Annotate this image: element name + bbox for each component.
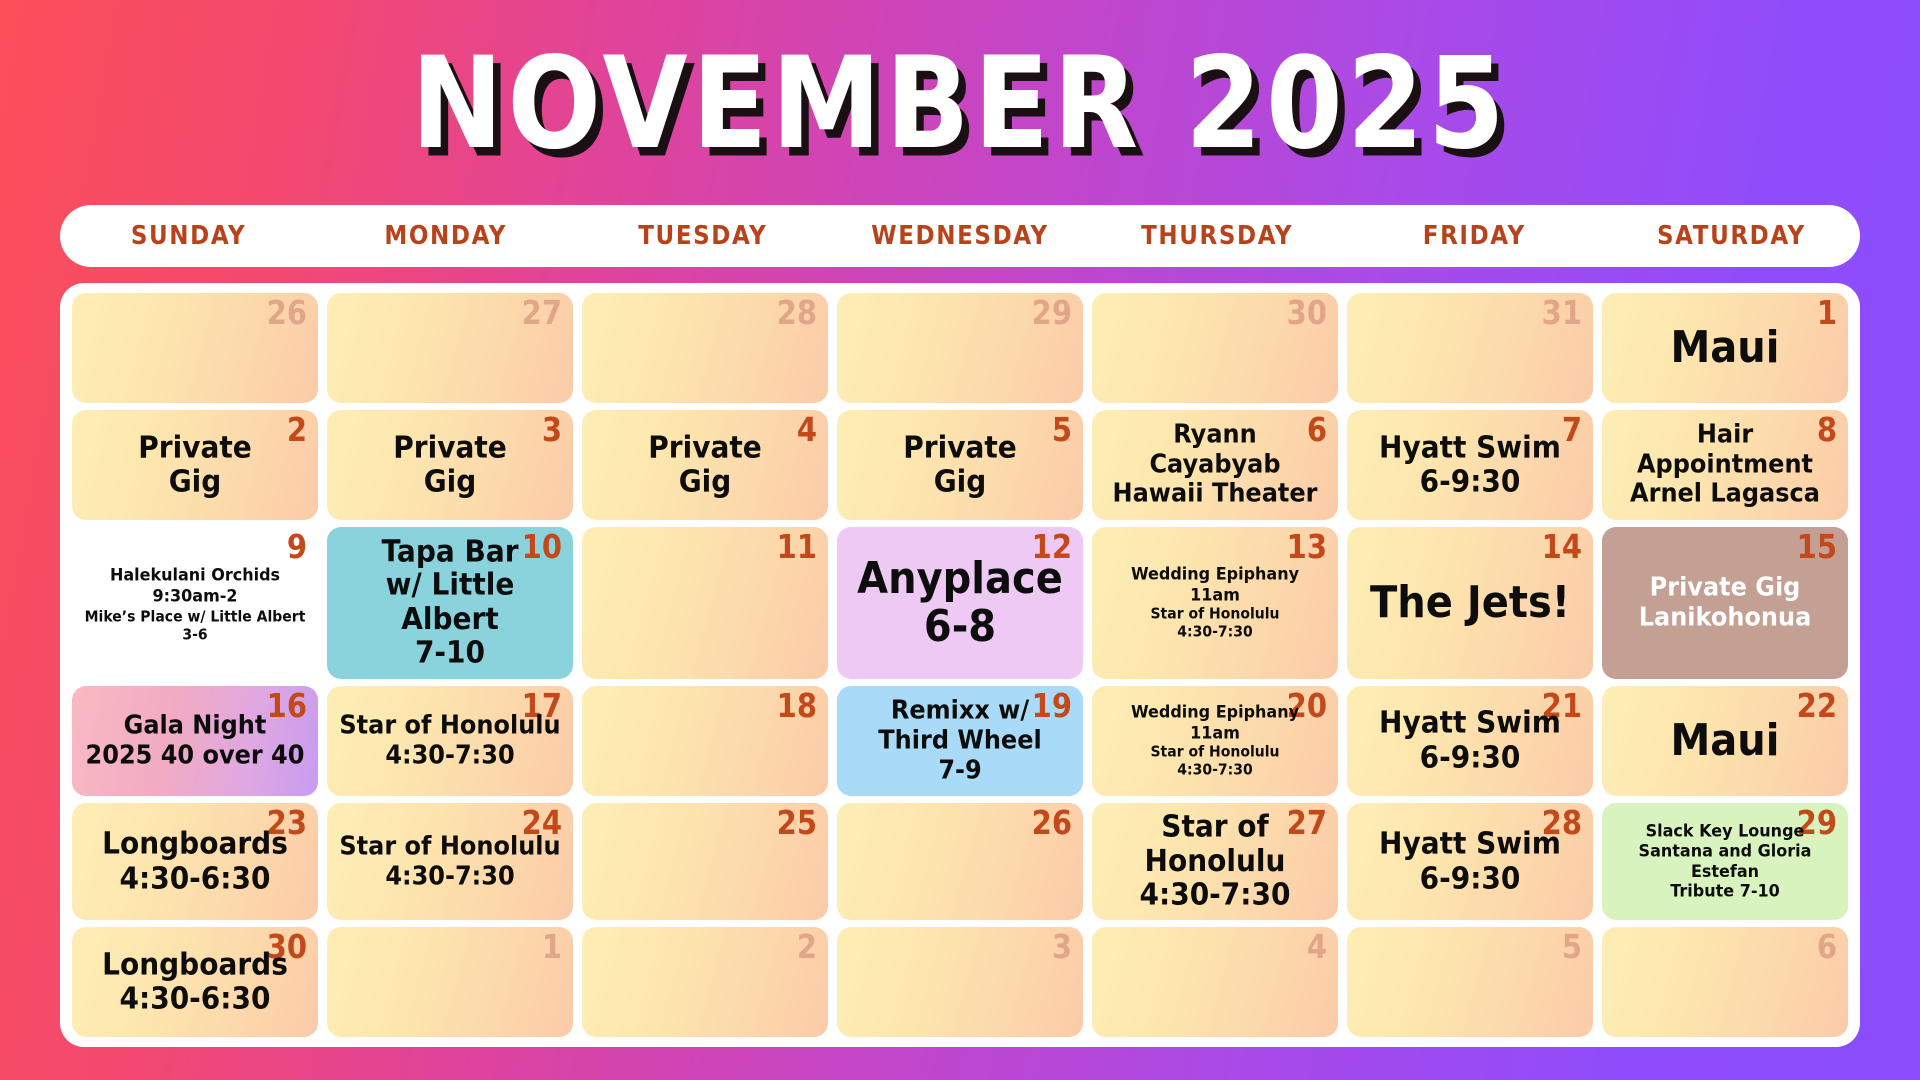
day-number: 30 bbox=[1287, 297, 1327, 329]
day-cell-1[interactable]: 1Maui bbox=[1602, 293, 1848, 403]
event-text: Remixx w/ bbox=[891, 696, 1029, 726]
event-text: 4:30-6:30 bbox=[120, 861, 271, 896]
event-text: 7-9 bbox=[938, 756, 981, 786]
event-text: Halekulani Orchids bbox=[110, 565, 280, 585]
day-cell-28[interactable]: 28 bbox=[582, 293, 828, 403]
day-cell-14[interactable]: 14The Jets! bbox=[1347, 527, 1593, 679]
event-text: Star of Honolulu bbox=[339, 711, 560, 741]
event-text: 11am bbox=[1190, 585, 1240, 605]
weekday-label-monday: MONDAY bbox=[317, 221, 574, 250]
day-cell-31[interactable]: 31 bbox=[1347, 293, 1593, 403]
day-cell-4[interactable]: 4PrivateGig bbox=[582, 410, 828, 520]
event-text: Ryann Cayabyab bbox=[1104, 420, 1326, 480]
day-cell-8[interactable]: 8Hair AppointmentArnel Lagasca bbox=[1602, 410, 1848, 520]
day-number: 7 bbox=[1562, 414, 1582, 446]
event-text: 3-6 bbox=[85, 627, 306, 645]
day-cell-7[interactable]: 7Hyatt Swim6-9:30 bbox=[1347, 410, 1593, 520]
event-text: Mike’s Place w/ Little Albert bbox=[85, 609, 306, 627]
day-cell-4[interactable]: 4 bbox=[1092, 927, 1338, 1037]
day-number: 6 bbox=[1817, 932, 1837, 964]
event-text: Slack Key Lounge bbox=[1646, 822, 1805, 842]
day-cell-10[interactable]: 10Tapa Barw/ Little Albert7-10 bbox=[327, 527, 573, 679]
day-cell-25[interactable]: 25 bbox=[582, 803, 828, 920]
event-text: Hyatt Swim bbox=[1379, 827, 1561, 862]
day-cell-30[interactable]: 30 bbox=[1092, 293, 1338, 403]
day-cell-27[interactable]: 27Star of Honolulu4:30-7:30 bbox=[1092, 803, 1338, 920]
day-number: 26 bbox=[267, 297, 307, 329]
event-text: 4:30-7:30 bbox=[1177, 624, 1252, 642]
event-text: 4:30-7:30 bbox=[1140, 878, 1291, 913]
weekday-label-tuesday: TUESDAY bbox=[574, 221, 831, 250]
event-text: 11am bbox=[1190, 723, 1240, 743]
event-text: Star of Honolulu bbox=[1150, 744, 1279, 762]
day-number: 31 bbox=[1542, 297, 1582, 329]
calendar-week-row: 30Longboards4:30-6:30123456 bbox=[72, 927, 1848, 1037]
day-cell-21[interactable]: 21Hyatt Swim6-9:30 bbox=[1347, 686, 1593, 796]
day-cell-6[interactable]: 6Ryann CayabyabHawaii Theater bbox=[1092, 410, 1338, 520]
day-number: 9 bbox=[287, 531, 307, 563]
day-cell-18[interactable]: 18 bbox=[582, 686, 828, 796]
event-text: 9:30am-2 bbox=[110, 586, 280, 606]
day-number: 11 bbox=[777, 531, 817, 563]
day-cell-23[interactable]: 23Longboards4:30-6:30 bbox=[72, 803, 318, 920]
event-text: Arnel Lagasca bbox=[1630, 479, 1820, 509]
calendar-week-row: 2PrivateGig3PrivateGig4PrivateGig5Privat… bbox=[72, 410, 1848, 520]
event-text: Gig bbox=[169, 465, 222, 500]
event-text: Hyatt Swim bbox=[1379, 430, 1561, 465]
event-text: Tribute 7-10 bbox=[1670, 881, 1779, 901]
weekday-header-row: SUNDAYMONDAYTUESDAYWEDNESDAYTHURSDAYFRID… bbox=[60, 205, 1860, 267]
day-number: 16 bbox=[267, 690, 307, 722]
event-text: Hawaii Theater bbox=[1113, 479, 1318, 509]
day-cell-24[interactable]: 24Star of Honolulu4:30-7:30 bbox=[327, 803, 573, 920]
day-cell-5[interactable]: 5PrivateGig bbox=[837, 410, 1083, 520]
day-cell-26[interactable]: 26 bbox=[72, 293, 318, 403]
day-number: 22 bbox=[1797, 690, 1837, 722]
event-text: Maui bbox=[1671, 323, 1780, 373]
day-number: 27 bbox=[522, 297, 562, 329]
event-text: Longboards bbox=[102, 827, 288, 862]
day-number: 25 bbox=[777, 807, 817, 839]
event-text: Private bbox=[393, 430, 506, 465]
weekday-label-sunday: SUNDAY bbox=[60, 221, 317, 250]
day-cell-5[interactable]: 5 bbox=[1347, 927, 1593, 1037]
day-cell-3[interactable]: 3 bbox=[837, 927, 1083, 1037]
day-number: 3 bbox=[1052, 932, 1072, 964]
event-text: 2025 40 over 40 bbox=[86, 741, 305, 771]
day-cell-6[interactable]: 6 bbox=[1602, 927, 1848, 1037]
day-cell-30[interactable]: 30Longboards4:30-6:30 bbox=[72, 927, 318, 1037]
day-cell-2[interactable]: 2 bbox=[582, 927, 828, 1037]
weekday-label-saturday: SATURDAY bbox=[1603, 221, 1860, 250]
day-cell-17[interactable]: 17Star of Honolulu4:30-7:30 bbox=[327, 686, 573, 796]
event-text: Private Gig bbox=[1650, 573, 1801, 603]
event-block: Mike’s Place w/ Little Albert3-6 bbox=[85, 609, 306, 643]
event-text: Star of Honolulu bbox=[1150, 606, 1279, 624]
day-number: 18 bbox=[777, 690, 817, 722]
event-text: Gig bbox=[934, 465, 987, 500]
event-text: The Jets! bbox=[1370, 578, 1570, 628]
day-number: 2 bbox=[287, 414, 307, 446]
day-cell-22[interactable]: 22Maui bbox=[1602, 686, 1848, 796]
day-number: 3 bbox=[542, 414, 562, 446]
calendar-grid: 2627282930311Maui2PrivateGig3PrivateGig4… bbox=[60, 283, 1860, 1047]
event-text: w/ Little Albert bbox=[339, 568, 561, 638]
event-text: 4:30-6:30 bbox=[120, 982, 271, 1017]
event-text: 4:30-7:30 bbox=[385, 861, 514, 891]
day-number: 1 bbox=[542, 932, 562, 964]
event-text: Third Wheel bbox=[878, 726, 1041, 756]
day-cell-27[interactable]: 27 bbox=[327, 293, 573, 403]
event-text: Wedding Epiphany bbox=[1131, 702, 1299, 722]
day-number: 19 bbox=[1032, 690, 1072, 722]
event-text: Star of Honolulu bbox=[339, 832, 560, 862]
weekday-label-wednesday: WEDNESDAY bbox=[831, 221, 1088, 250]
day-number: 4 bbox=[797, 414, 817, 446]
day-number: 2 bbox=[797, 932, 817, 964]
day-number: 28 bbox=[777, 297, 817, 329]
event-text: Gala Night bbox=[124, 711, 267, 741]
day-number: 29 bbox=[1032, 297, 1072, 329]
day-number: 1 bbox=[1817, 297, 1837, 329]
calendar-week-row: 2627282930311Maui bbox=[72, 293, 1848, 403]
day-cell-11[interactable]: 11 bbox=[582, 527, 828, 679]
day-cell-12[interactable]: 12Anyplace6-8 bbox=[837, 527, 1083, 679]
day-cell-15[interactable]: 15Private GigLanikohonua bbox=[1602, 527, 1848, 679]
weekday-label-friday: FRIDAY bbox=[1346, 221, 1603, 250]
day-number: 10 bbox=[522, 531, 562, 563]
event-text: 4:30-7:30 bbox=[385, 741, 514, 771]
event-text: Tapa Bar bbox=[381, 535, 518, 570]
event-text: Gig bbox=[424, 465, 477, 500]
event-text: Gig bbox=[679, 465, 732, 500]
day-cell-29[interactable]: 29Slack Key LoungeSantana and Gloria Est… bbox=[1602, 803, 1848, 920]
calendar-week-row: 23Longboards4:30-6:3024Star of Honolulu4… bbox=[72, 803, 1848, 920]
event-text: Hair Appointment bbox=[1614, 420, 1836, 480]
day-cell-13[interactable]: 13Wedding Epiphany11amStar of Honolulu4:… bbox=[1092, 527, 1338, 679]
day-cell-3[interactable]: 3PrivateGig bbox=[327, 410, 573, 520]
day-cell-28[interactable]: 28Hyatt Swim6-9:30 bbox=[1347, 803, 1593, 920]
day-number: 13 bbox=[1287, 531, 1327, 563]
event-text: Santana and Gloria Estefan bbox=[1614, 842, 1836, 882]
event-text: 4:30-7:30 bbox=[1177, 762, 1252, 780]
day-cell-19[interactable]: 19Remixx w/Third Wheel7-9 bbox=[837, 686, 1083, 796]
day-cell-16[interactable]: 16Gala Night2025 40 over 40 bbox=[72, 686, 318, 796]
calendar-week-row: 9Halekulani Orchids9:30am-2Mike’s Place … bbox=[72, 527, 1848, 679]
event-text: Private bbox=[903, 430, 1016, 465]
event-text: Private bbox=[648, 430, 761, 465]
event-text: Longboards bbox=[102, 948, 288, 983]
day-cell-26[interactable]: 26 bbox=[837, 803, 1083, 920]
event-text: Private bbox=[138, 430, 251, 465]
page-title: NOVEMBER 2025 bbox=[411, 28, 1509, 177]
day-cell-9[interactable]: 9Halekulani Orchids9:30am-2Mike’s Place … bbox=[72, 527, 318, 679]
event-text: 6-9:30 bbox=[1420, 861, 1521, 896]
event-text: Lanikohonua bbox=[1639, 603, 1812, 633]
event-text: Anyplace bbox=[857, 554, 1063, 604]
day-number: 4 bbox=[1307, 932, 1327, 964]
event-text: 7-10 bbox=[415, 636, 485, 671]
event-text: 6-9:30 bbox=[1420, 465, 1521, 500]
day-cell-20[interactable]: 20Wedding Epiphany11amStar of Honolulu4:… bbox=[1092, 686, 1338, 796]
weekday-label-thursday: THURSDAY bbox=[1089, 221, 1346, 250]
event-block: Halekulani Orchids9:30am-2 bbox=[110, 566, 280, 605]
event-text: Wedding Epiphany bbox=[1131, 564, 1299, 584]
day-cell-2[interactable]: 2PrivateGig bbox=[72, 410, 318, 520]
event-text: 6-8 bbox=[924, 602, 996, 652]
calendar-title-bar: NOVEMBER 2025 bbox=[0, 0, 1920, 205]
calendar-week-row: 16Gala Night2025 40 over 4017Star of Hon… bbox=[72, 686, 1848, 796]
event-text: Star of Honolulu bbox=[1104, 809, 1326, 879]
day-number: 15 bbox=[1797, 531, 1837, 563]
day-cell-1[interactable]: 1 bbox=[327, 927, 573, 1037]
day-number: 5 bbox=[1052, 414, 1072, 446]
day-number: 5 bbox=[1562, 932, 1582, 964]
event-text: Hyatt Swim bbox=[1379, 706, 1561, 741]
day-cell-29[interactable]: 29 bbox=[837, 293, 1083, 403]
event-text: Maui bbox=[1671, 716, 1780, 766]
event-text: 6-9:30 bbox=[1420, 741, 1521, 776]
day-number: 14 bbox=[1542, 531, 1582, 563]
day-number: 26 bbox=[1032, 807, 1072, 839]
